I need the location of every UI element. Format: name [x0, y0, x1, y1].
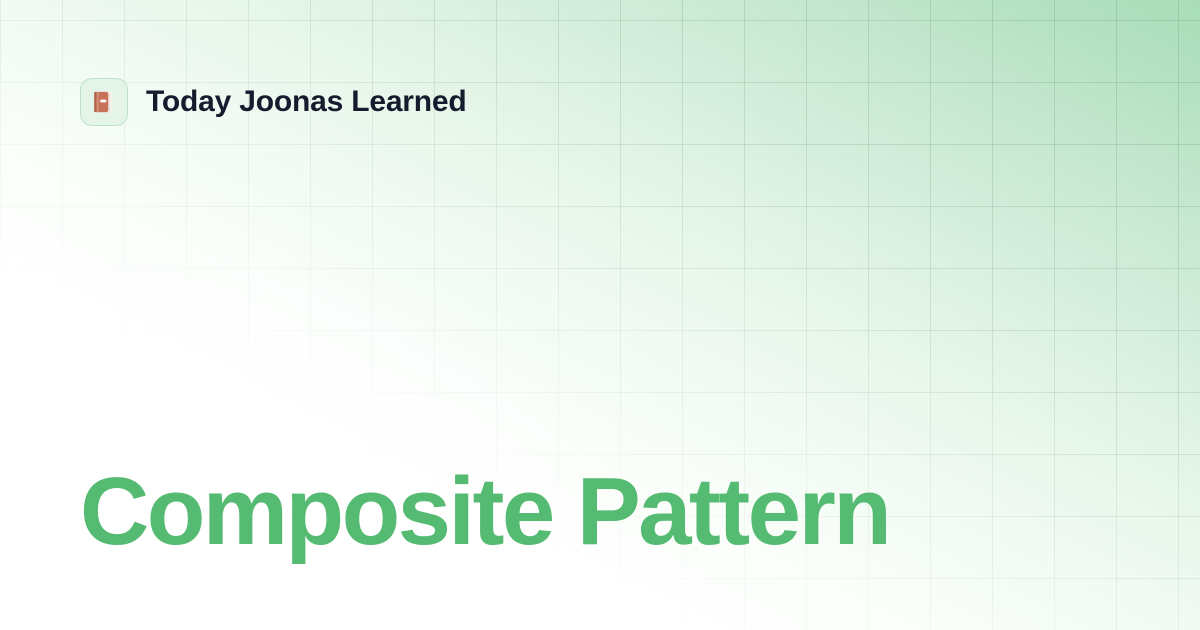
brand-title: Today Joonas Learned — [146, 87, 467, 117]
closed-book-icon — [89, 87, 119, 117]
card-content: Today Joonas Learned Composite Pattern — [0, 0, 1200, 630]
page-title: Composite Pattern — [80, 462, 889, 562]
brand-row: Today Joonas Learned — [80, 78, 467, 126]
brand-icon-badge — [80, 78, 128, 126]
open-graph-card: Today Joonas Learned Composite Pattern — [0, 0, 1200, 630]
